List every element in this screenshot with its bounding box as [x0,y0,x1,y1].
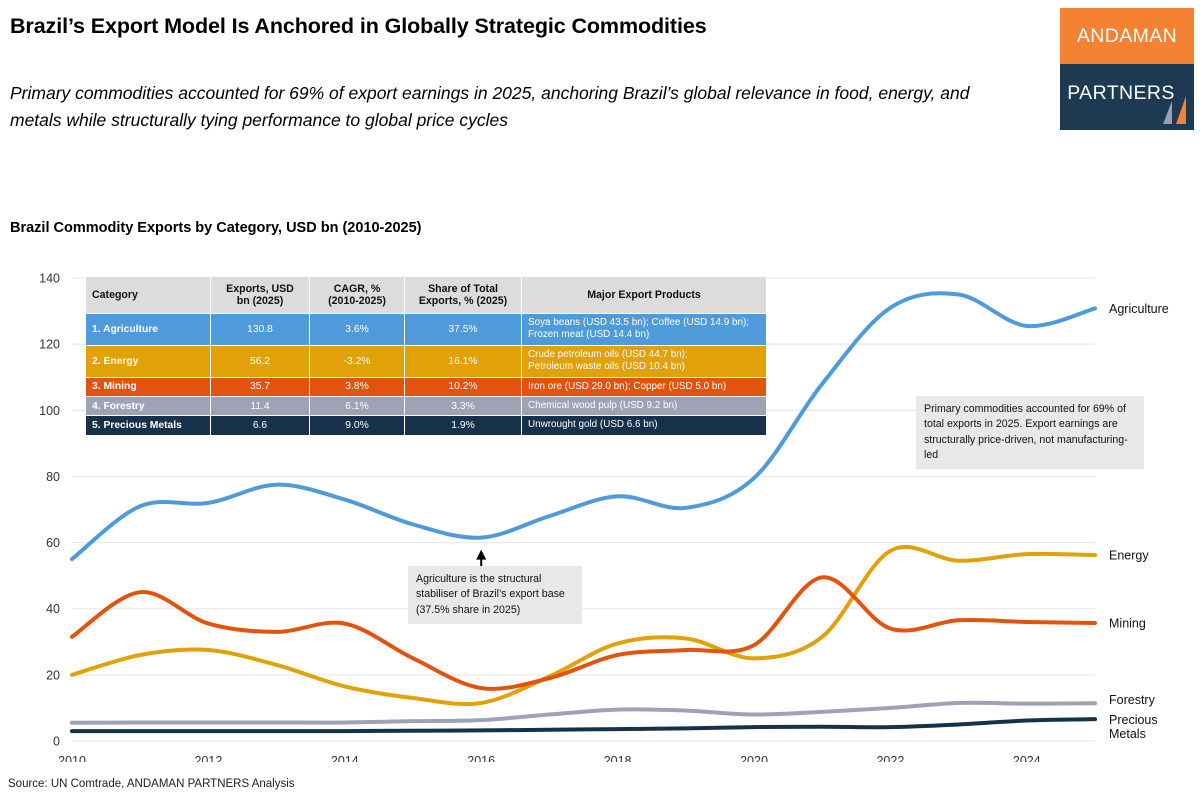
x-axis-tick: 2016 [467,754,495,762]
cell-category: 2. Energy [86,345,211,377]
col-header-share-line1: Share of Total [428,283,498,295]
cell-products-line1: Crude petroleum oils (USD 44.7 bn); [528,349,688,360]
col-header-category: Category [86,277,211,314]
cell-category: 5. Precious Metals [86,416,211,435]
x-axis-tick: 2010 [58,754,86,762]
logo-text-andaman: ANDAMAN [1060,25,1194,48]
cell-products-line2: Petroleum waste oils (USD 10.4 bn) [528,361,685,372]
table-body: 1. Agriculture 130.8 3.6% 37.5% Soya bea… [86,314,767,436]
series-line-energy [72,547,1095,704]
andaman-partners-logo: ANDAMAN PARTNERS [1060,8,1194,130]
cell-exports: 11.4 [211,396,310,415]
x-axis-tick: 2018 [604,754,632,762]
cell-share: 10.2% [405,377,522,396]
table-row: 3. Mining 35.7 3.8% 10.2% Iron ore (USD … [86,377,767,396]
series-label-mining: Mining [1109,616,1146,630]
table-row: 4. Forestry 11.4 6.1% 3.3% Chemical wood… [86,396,767,415]
cell-products: Crude petroleum oils (USD 44.7 bn); Petr… [522,345,767,377]
y-axis-tick: 40 [46,602,60,616]
col-header-cagr-line2: (2010-2025) [328,295,386,307]
series-label-forestry: Forestry [1109,693,1156,707]
cell-category: 4. Forestry [86,396,211,415]
table-row: 1. Agriculture 130.8 3.6% 37.5% Soya bea… [86,314,767,346]
cell-products-line2: Frozen meat (USD 14.4 bn) [528,329,649,340]
cell-exports: 6.6 [211,416,310,435]
sail-grey-icon [1163,101,1172,124]
cell-exports: 35.7 [211,377,310,396]
col-header-cagr: CAGR, % (2010-2025) [310,277,405,314]
table-header: Category Exports, USD bn (2025) CAGR, % … [86,277,767,314]
x-axis-tick: 2020 [740,754,768,762]
series-label-agriculture: Agriculture [1109,302,1169,316]
page-subtitle: Primary commodities accounted for 69% of… [10,80,1020,134]
cell-exports: 130.8 [211,314,310,346]
callout-arrow-head-icon [476,550,486,560]
y-axis-tick: 0 [53,735,60,749]
x-axis-tick: 2024 [1013,754,1041,762]
series-label-precious-metals: Precious [1109,713,1158,727]
callout-primary-commodities: Primary commodities accounted for 69% of… [916,396,1144,469]
x-axis-tick: 2012 [194,754,222,762]
cell-cagr: 3.6% [310,314,405,346]
y-axis-tick: 140 [39,272,60,286]
cell-products: Chemical wood pulp (USD 9.2 bn) [522,396,767,415]
col-header-cagr-line1: CAGR, % [334,283,381,295]
cell-category: 1. Agriculture [86,314,211,346]
col-header-exports-line2: bn (2025) [237,295,284,307]
y-axis-tick: 100 [39,404,60,418]
y-axis-tick: 120 [39,338,60,352]
cell-products: Iron ore (USD 29.0 bn); Copper (USD 5.0 … [522,377,767,396]
commodity-exports-table: Category Exports, USD bn (2025) CAGR, % … [85,276,767,436]
x-axis-tick: 2022 [876,754,904,762]
source-note: Source: UN Comtrade, ANDAMAN PARTNERS An… [8,778,295,790]
col-header-share: Share of Total Exports, % (2025) [405,277,522,314]
cell-products-line1: Soya beans (USD 43.5 bn); Coffee (USD 14… [528,317,749,328]
series-label-precious-metals-line2: Metals [1109,727,1146,741]
x-axis-tick: 2014 [331,754,359,762]
cell-cagr: -3.2% [310,345,405,377]
cell-cagr: 9.0% [310,416,405,435]
table-header-row: Category Exports, USD bn (2025) CAGR, % … [86,277,767,314]
cell-category: 3. Mining [86,377,211,396]
col-header-share-line2: Exports, % (2025) [419,295,507,307]
chart-title: Brazil Commodity Exports by Category, US… [10,220,421,236]
y-axis-tick: 20 [46,668,60,682]
cell-products: Unwrought gold (USD 6.6 bn) [522,416,767,435]
page-title: Brazil’s Export Model Is Anchored in Glo… [10,14,1030,39]
y-axis-tick: 80 [46,470,60,484]
col-header-exports: Exports, USD bn (2025) [211,277,310,314]
sail-orange-icon [1176,96,1186,124]
callout-agriculture: Agriculture is the structural stabiliser… [408,566,582,624]
col-header-exports-line1: Exports, USD [226,283,294,295]
cell-share: 16.1% [405,345,522,377]
cell-share: 3.3% [405,396,522,415]
cell-cagr: 3.8% [310,377,405,396]
col-header-products: Major Export Products [522,277,767,314]
cell-share: 1.9% [405,416,522,435]
table-row: 2. Energy 56.2 -3.2% 16.1% Crude petrole… [86,345,767,377]
series-line-mining [72,577,1095,689]
cell-share: 37.5% [405,314,522,346]
table-row: 5. Precious Metals 6.6 9.0% 1.9% Unwroug… [86,416,767,435]
series-label-energy: Energy [1109,549,1149,563]
series-line-forestry [72,703,1095,723]
y-axis-tick: 60 [46,536,60,550]
cell-exports: 56.2 [211,345,310,377]
slide-root: Brazil’s Export Model Is Anchored in Glo… [0,0,1200,800]
cell-cagr: 6.1% [310,396,405,415]
cell-products: Soya beans (USD 43.5 bn); Coffee (USD 14… [522,314,767,346]
